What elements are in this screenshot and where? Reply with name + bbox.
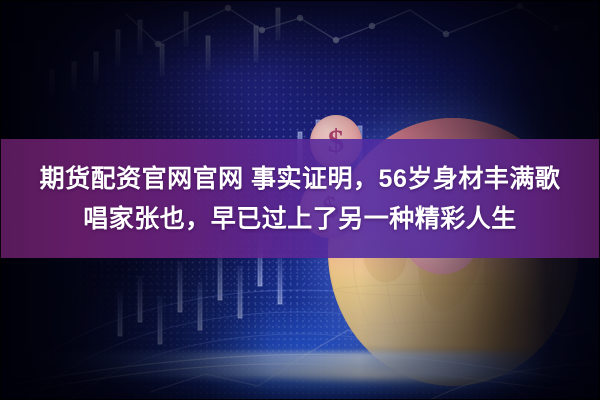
headline-line-2: 唱家张也，早已过上了另一种精彩人生 — [83, 200, 517, 238]
banner-image: $ $ 期货配资官网官网 事实证明，56岁身材丰满歌 唱家张也，早已过上了另一种… — [0, 0, 600, 400]
headline-text-block: 期货配资官网官网 事实证明，56岁身材丰满歌 唱家张也，早已过上了另一种精彩人生 — [0, 139, 600, 258]
headline-line-1: 期货配资官网官网 事实证明，56岁身材丰满歌 — [40, 160, 561, 198]
